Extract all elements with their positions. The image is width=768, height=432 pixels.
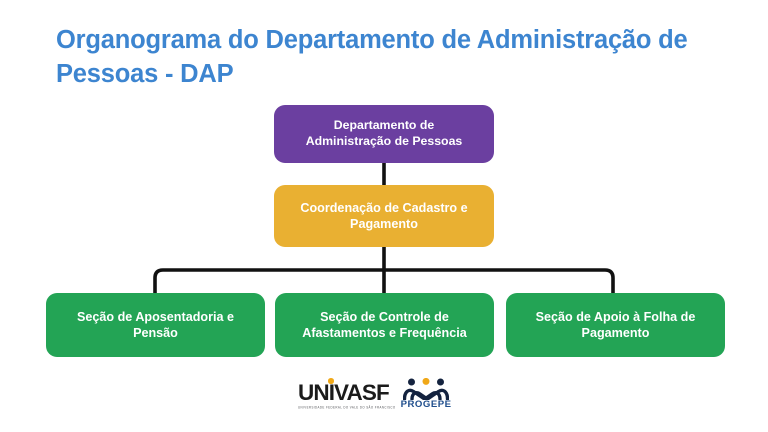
progepe-logo: PROGEPE <box>401 378 452 410</box>
page-title: Organograma do Departamento de Administr… <box>56 24 736 91</box>
progepe-wordmark-label: PROGEPE <box>401 400 452 410</box>
progepe-people-icon <box>403 378 449 400</box>
univasf-wordmark-text: UNIVASF <box>298 382 389 405</box>
organogram-slide: Organograma do Departamento de Administr… <box>0 0 768 432</box>
org-node-coordenacao[interactable]: Coordenação de Cadastro e Pagamento <box>274 185 494 247</box>
univasf-wordmark-label: UNIVASF <box>298 380 389 405</box>
org-node-secao-apoio-folha-pagamento[interactable]: Seção de Apoio à Folha de Pagamento <box>506 293 725 357</box>
org-node-secao-controle-afastamentos-frequencia[interactable]: Seção de Controle de Afastamentos e Freq… <box>275 293 494 357</box>
org-node-departamento[interactable]: Departamento de Administração de Pessoas <box>274 105 494 163</box>
footer-logo: UNIVASF UNIVERSIDADE FEDERAL DO VALE DO … <box>298 374 478 414</box>
univasf-accent-dot-icon <box>328 378 334 384</box>
univasf-tagline-text: UNIVERSIDADE FEDERAL DO VALE DO SÃO FRAN… <box>298 406 396 410</box>
org-node-secao-aposentadoria-pensao[interactable]: Seção de Aposentadoria e Pensão <box>46 293 265 357</box>
univasf-logo: UNIVASF UNIVERSIDADE FEDERAL DO VALE DO … <box>298 379 396 410</box>
